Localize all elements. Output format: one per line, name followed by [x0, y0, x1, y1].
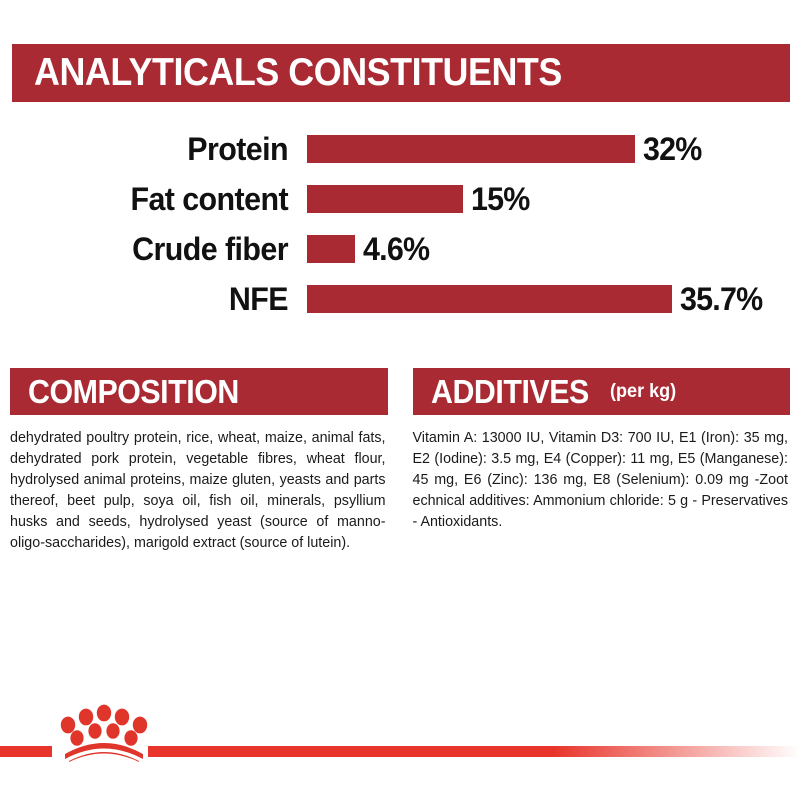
additives-panel: ADDITIVES (per kg) Vitamin A: 13000 IU, …: [413, 368, 791, 554]
bar-label-protein: Protein: [14, 131, 288, 168]
additives-subtitle: (per kg): [610, 368, 676, 415]
composition-body: dehydrated poultry protein, rice, wheat,…: [10, 428, 388, 554]
chart-row-nfe: NFE 35.7%: [0, 274, 800, 324]
bar-label-nfe: NFE: [14, 281, 288, 318]
composition-title: COMPOSITION: [28, 368, 239, 415]
bar-track-fat-content: 15%: [307, 185, 800, 213]
bar-value-fat-content: 15%: [471, 181, 530, 218]
composition-panel: COMPOSITION dehydrated poultry protein, …: [10, 368, 388, 554]
info-panels: COMPOSITION dehydrated poultry protein, …: [0, 368, 800, 554]
footer-rule-right: [148, 746, 800, 757]
composition-header: COMPOSITION: [10, 368, 388, 415]
footer-rule-left: [0, 746, 52, 757]
bar-fill-fat-content: [307, 185, 463, 213]
bar-fill-crude-fiber: [307, 235, 355, 263]
analyticals-constituents-header: ANALYTICALS CONSTITUENTS: [12, 44, 790, 102]
bar-label-fat-content: Fat content: [14, 181, 288, 218]
analyticals-bar-chart: Protein 32% Fat content 15% Crude fiber …: [0, 124, 800, 334]
bar-value-nfe: 35.7%: [680, 281, 762, 318]
chart-row-crude-fiber: Crude fiber 4.6%: [0, 224, 800, 274]
royal-canin-crown-logo: [55, 700, 153, 762]
page-title: ANALYTICALS CONSTITUENTS: [34, 44, 562, 102]
bar-label-crude-fiber: Crude fiber: [14, 231, 288, 268]
bar-track-crude-fiber: 4.6%: [307, 235, 800, 263]
additives-body: Vitamin A: 13000 IU, Vitamin D3: 700 IU,…: [413, 428, 791, 533]
bar-value-crude-fiber: 4.6%: [363, 231, 429, 268]
bar-value-protein: 32%: [643, 131, 702, 168]
chart-row-fat-content: Fat content 15%: [0, 174, 800, 224]
bar-fill-protein: [307, 135, 635, 163]
additives-title: ADDITIVES: [431, 368, 589, 415]
bar-fill-nfe: [307, 285, 672, 313]
bar-track-protein: 32%: [307, 135, 800, 163]
chart-row-protein: Protein 32%: [0, 124, 800, 174]
bar-track-nfe: 35.7%: [307, 285, 800, 313]
additives-header: ADDITIVES (per kg): [413, 368, 791, 415]
product-label-panel: ANALYTICALS CONSTITUENTS Protein 32% Fat…: [0, 0, 800, 800]
